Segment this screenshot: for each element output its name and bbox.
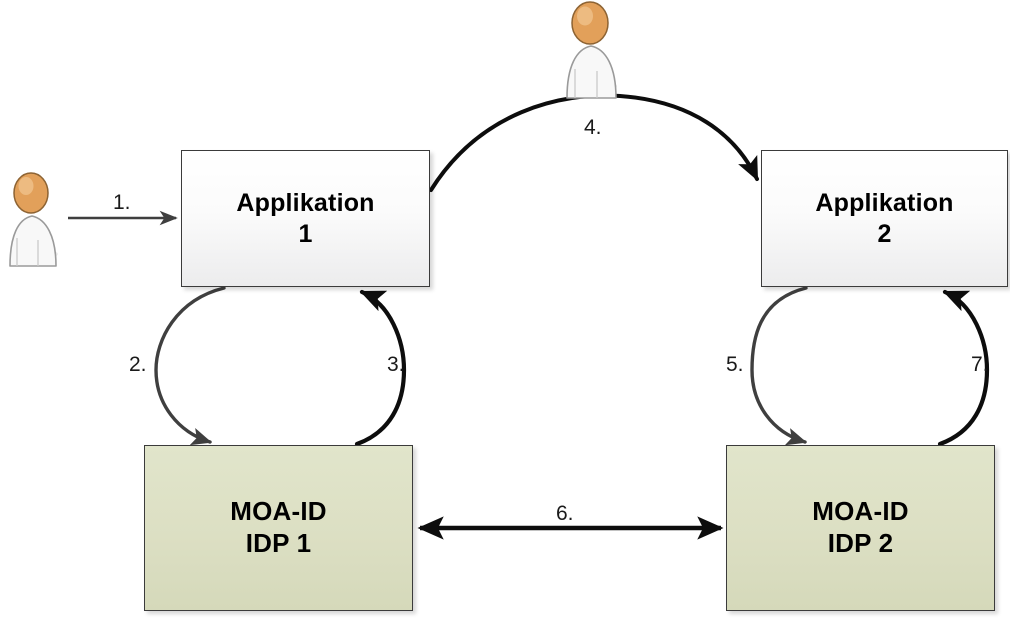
user-actor-top-glyph — [567, 2, 617, 98]
applikation-2-box[interactable]: Applikation 2 — [761, 150, 1008, 287]
diagram-canvas: Applikation 1 Applikation 2 MOA-ID IDP 1… — [0, 0, 1010, 618]
applikation-1-label-line-1: Applikation — [236, 188, 374, 219]
moa-id-idp-1-box[interactable]: MOA-ID IDP 1 — [144, 445, 413, 611]
step-label-6: 6. — [556, 503, 574, 524]
step-label-4: 4. — [584, 117, 602, 138]
moa-id-idp-1-label-line-1: MOA-ID — [230, 496, 327, 528]
moa-id-idp-2-label-line-1: MOA-ID — [812, 496, 909, 528]
step-label-1: 1. — [113, 192, 131, 213]
step-label-5: 5. — [726, 354, 744, 375]
moa-id-idp-2-box[interactable]: MOA-ID IDP 2 — [726, 445, 995, 611]
connector-step-2 — [156, 288, 224, 442]
applikation-2-label-line-2: 2 — [877, 219, 891, 250]
moa-id-idp-2-label-line-2: IDP 2 — [828, 528, 894, 560]
applikation-1-label-line-2: 1 — [298, 219, 312, 250]
moa-id-idp-1-label-line-2: IDP 1 — [246, 528, 312, 560]
step-label-7: 7. — [971, 354, 989, 375]
user-actor-left-glyph — [10, 173, 58, 266]
applikation-2-label-line-1: Applikation — [815, 188, 953, 219]
connector-step-4 — [431, 96, 757, 190]
connector-step-5 — [752, 288, 806, 442]
step-label-3: 3. — [387, 354, 405, 375]
applikation-1-box[interactable]: Applikation 1 — [181, 150, 430, 287]
step-label-2: 2. — [129, 354, 147, 375]
